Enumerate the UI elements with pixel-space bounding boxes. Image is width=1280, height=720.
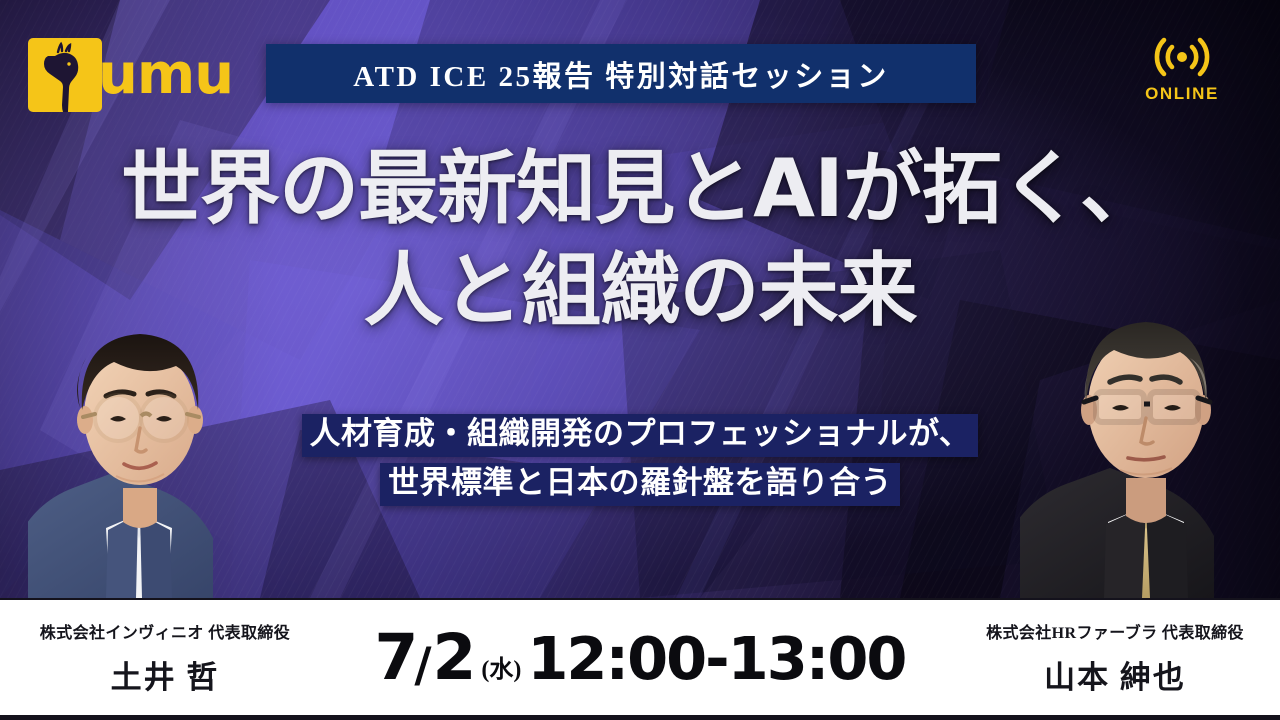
webinar-promo-banner: umu ONLINE ATD ICE 25報告 特別対話セッション 世界の最新知… (0, 0, 1280, 720)
giraffe-head-icon (28, 38, 102, 112)
speaker-right-org: 株式会社HRファーブラ 代表取締役 (972, 619, 1258, 643)
event-day: 2 (433, 626, 475, 689)
speaker-right-name: 山本 紳也 (972, 652, 1258, 697)
speaker-left-org: 株式会社インヴィニオ 代表取締役 (22, 619, 308, 643)
event-day-of-week: (水) (481, 658, 521, 682)
umu-wordmark: umu (98, 47, 233, 103)
speaker-left-name: 土井 哲 (22, 652, 308, 697)
date-separator: / (414, 642, 431, 689)
session-ribbon-text: ATD ICE 25報告 特別対話セッション (353, 53, 888, 95)
event-time: 12:00-13:00 (527, 629, 905, 688)
umu-logo[interactable]: umu (28, 38, 233, 112)
broadcast-signal-icon (1151, 34, 1213, 80)
subtitle-line-1-wrap: 人材育成・組織開発のプロフェッショナルが、 (0, 414, 1280, 457)
online-label: ONLINE (1145, 84, 1219, 104)
subtitle-line-2-wrap: 世界標準と日本の羅針盤を語り合う (0, 463, 1280, 506)
hero-visual: umu ONLINE ATD ICE 25報告 特別対話セッション 世界の最新知… (0, 0, 1280, 598)
online-badge: ONLINE (1122, 34, 1242, 104)
footer-bar: 株式会社インヴィニオ 代表取締役 土井 哲 7 / 2 (水) 12:00-13… (0, 598, 1280, 720)
subtitle: 人材育成・組織開発のプロフェッショナルが、 世界標準と日本の羅針盤を語り合う (0, 414, 1280, 512)
session-ribbon: ATD ICE 25報告 特別対話セッション (266, 44, 976, 103)
speaker-info-left: 株式会社インヴィニオ 代表取締役 土井 哲 (0, 619, 330, 697)
subtitle-line-1: 人材育成・組織開発のプロフェッショナルが、 (302, 414, 979, 457)
speaker-portrait-right (1020, 226, 1270, 598)
event-datetime: 7 / 2 (水) 12:00-13:00 (330, 626, 950, 689)
subtitle-line-2: 世界標準と日本の羅針盤を語り合う (380, 463, 900, 506)
speaker-info-right: 株式会社HRファーブラ 代表取締役 山本 紳也 (950, 619, 1280, 697)
event-month: 7 (375, 626, 417, 689)
